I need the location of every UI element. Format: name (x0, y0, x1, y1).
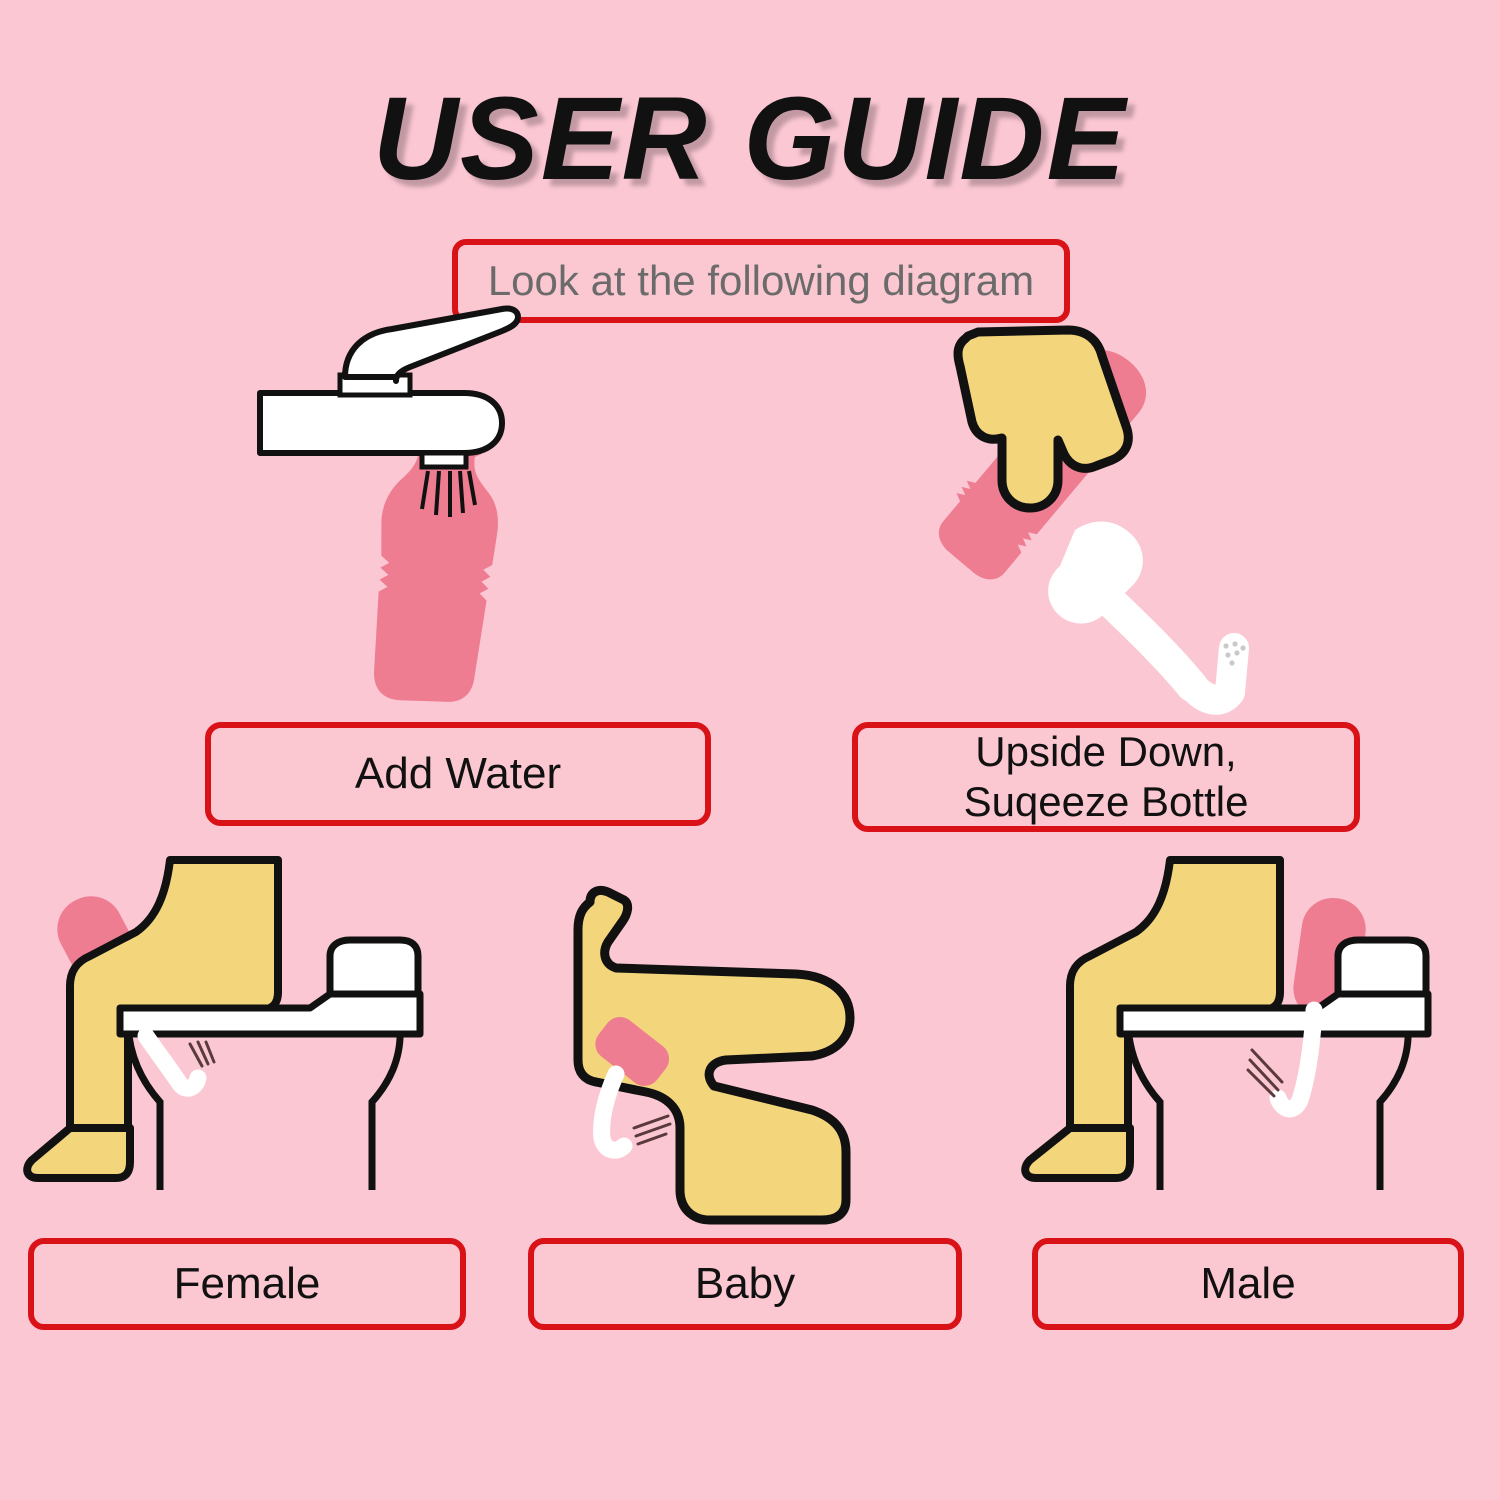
male-on-toilet-icon (1000, 860, 1470, 1230)
subtitle-text: Look at the following diagram (488, 256, 1034, 306)
baby-lying-icon (550, 870, 950, 1230)
caption-baby-label: Baby (695, 1258, 795, 1310)
caption-add-water: Add Water (205, 722, 711, 826)
caption-male-label: Male (1200, 1258, 1295, 1310)
faucet-filling-bottle-icon (250, 325, 610, 725)
caption-female: Female (28, 1238, 466, 1330)
caption-upside-down: Upside Down, Suqeeze Bottle (852, 722, 1360, 832)
subtitle-box: Look at the following diagram (452, 239, 1070, 323)
user-guide-page: USER GUIDE Look at the following diagram (0, 0, 1500, 1500)
caption-add-water-label: Add Water (355, 748, 561, 800)
hand-squeezing-bottle-icon (890, 330, 1310, 730)
caption-female-label: Female (174, 1258, 321, 1310)
page-title: USER GUIDE (0, 78, 1500, 202)
caption-baby: Baby (528, 1238, 962, 1330)
caption-upside-down-line2: Suqeeze Bottle (964, 777, 1249, 827)
caption-upside-down-line1: Upside Down, (964, 727, 1249, 777)
female-on-toilet-icon (20, 860, 470, 1230)
caption-male: Male (1032, 1238, 1464, 1330)
